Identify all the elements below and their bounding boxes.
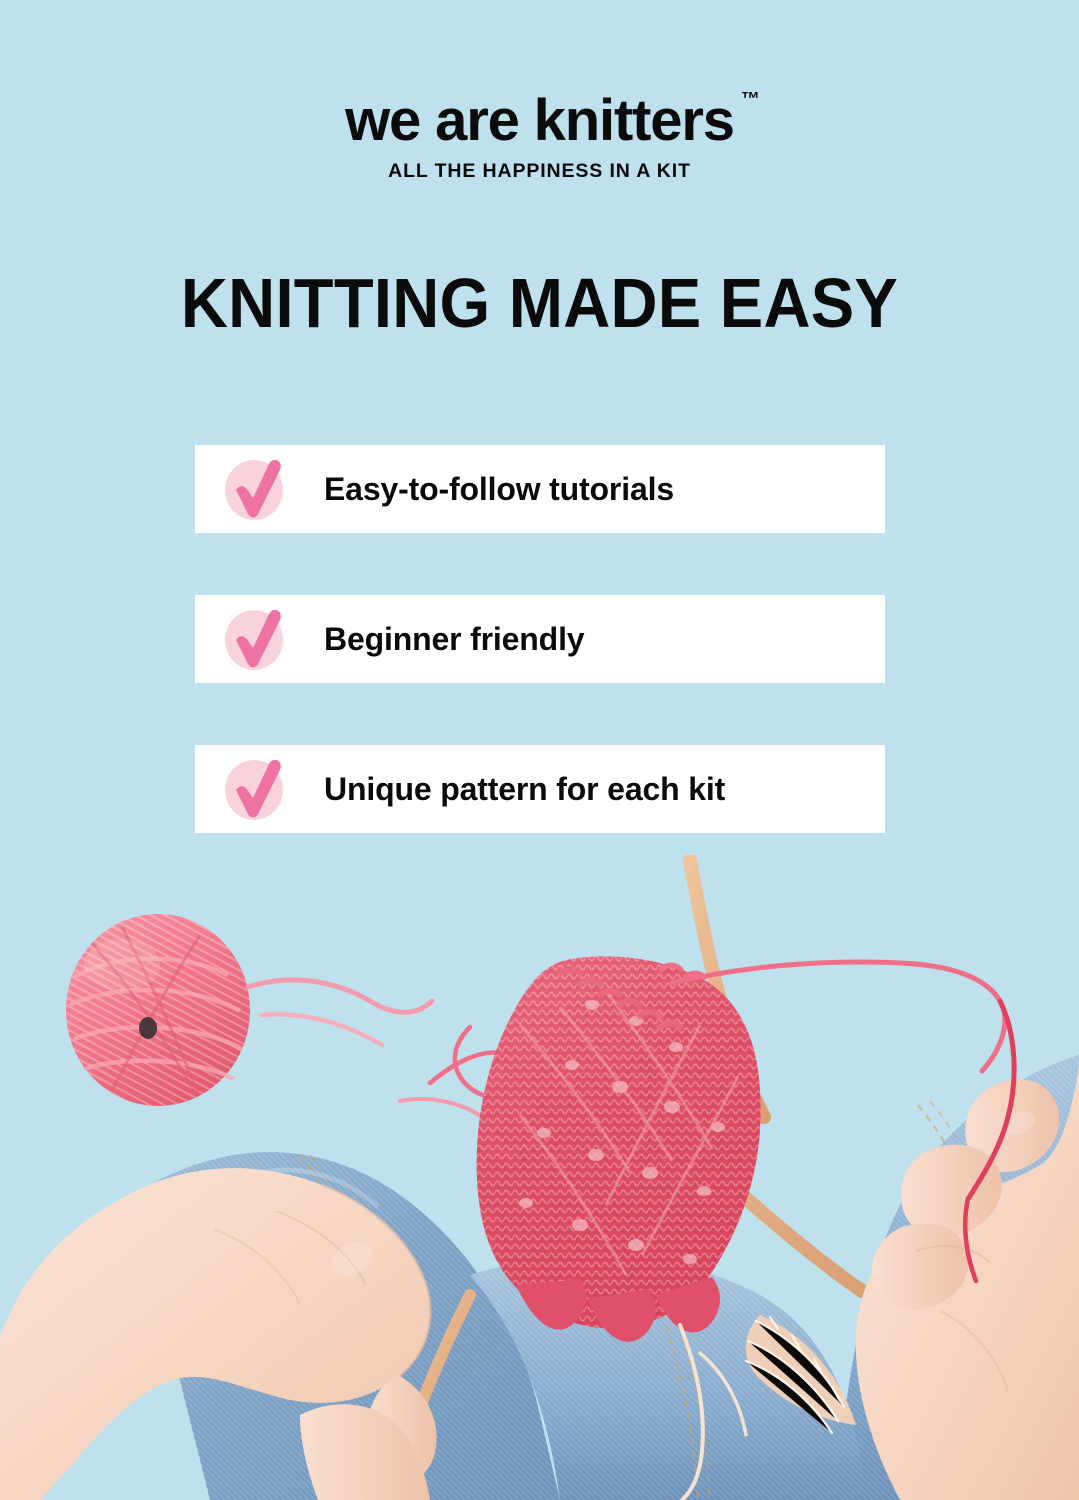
- poster: we are knitters ™ ALL THE HAPPINESS IN A…: [0, 0, 1079, 1500]
- feature-list: Easy-to-follow tutorials Beginner friend…: [195, 445, 885, 895]
- feature-card-1: Easy-to-follow tutorials: [195, 445, 885, 533]
- photo-illustration: [0, 855, 1079, 1500]
- brand-name: we are knitters ™: [345, 92, 734, 150]
- check-mark-glyph: [222, 604, 292, 674]
- check-mark-glyph: [222, 754, 292, 824]
- page-title: KNITTING MADE EASY: [38, 268, 1041, 338]
- feature-card-3: Unique pattern for each kit: [195, 745, 885, 833]
- feature-label: Beginner friendly: [324, 621, 584, 658]
- brand-tagline: ALL THE HAPPINESS IN A KIT: [0, 160, 1079, 183]
- check-mark-glyph: [222, 454, 292, 524]
- trademark-symbol: ™: [741, 90, 760, 109]
- feature-card-2: Beginner friendly: [195, 595, 885, 683]
- brand-block: we are knitters ™ ALL THE HAPPINESS IN A…: [0, 92, 1079, 183]
- check-icon: [222, 754, 292, 824]
- hands-knitting-photo: [0, 855, 1079, 1500]
- check-icon: [222, 454, 292, 524]
- feature-label: Unique pattern for each kit: [324, 771, 725, 808]
- feature-label: Easy-to-follow tutorials: [324, 471, 674, 508]
- check-icon: [222, 604, 292, 674]
- brand-name-text: we are knitters: [345, 88, 734, 153]
